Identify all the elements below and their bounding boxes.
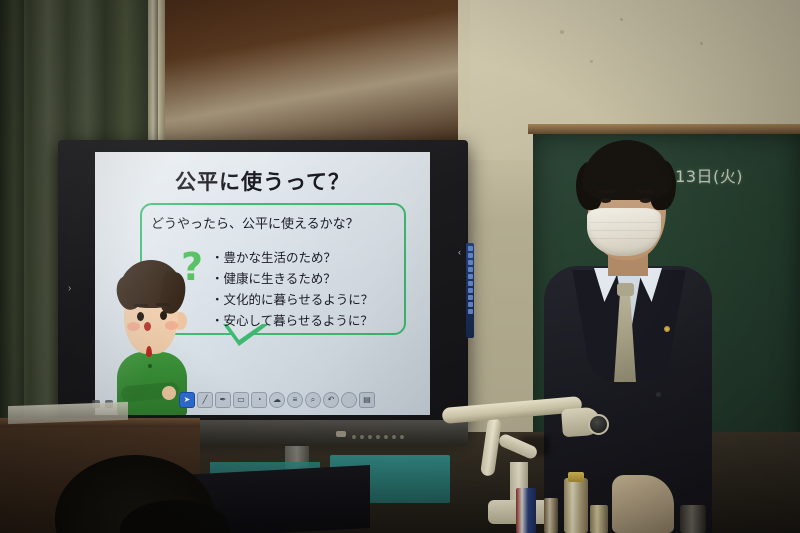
led-indicator — [392, 435, 396, 439]
boy-eye — [160, 311, 167, 320]
mask-fold — [590, 222, 658, 223]
led-indicator — [384, 435, 388, 439]
side-toolbar-button[interactable] — [468, 267, 473, 272]
boy-eye — [137, 312, 144, 321]
wall-speck — [560, 30, 564, 34]
select-cursor-tool-icon[interactable]: ➤ — [179, 392, 195, 408]
whiteboard-screen[interactable]: 公平に使うって？ どうやったら、公平に使えるかな？ ? ・豊かな生活のため？ ・… — [95, 152, 430, 415]
boy-cheek — [165, 321, 178, 330]
doccam-neck — [480, 417, 502, 476]
shape-tool-icon[interactable]: ◔ — [251, 392, 267, 408]
led-indicator — [376, 435, 380, 439]
bottle-cap — [568, 472, 584, 482]
boy-shirt-button — [148, 364, 152, 368]
slide-question-text: どうやったら、公平に使えるかな？ — [151, 213, 359, 232]
led-indicator — [352, 435, 356, 439]
teacher-eyebrow — [637, 190, 654, 193]
slide-bullet-item: ・文化的に暮らせるように？ — [211, 289, 373, 310]
undo-button-icon[interactable]: ↶ — [323, 392, 339, 408]
side-toolbar-button[interactable] — [468, 253, 473, 258]
chevron-right-icon[interactable]: › — [68, 284, 71, 294]
led-indicator — [360, 435, 364, 439]
delete-button-icon[interactable]: ▤ — [359, 392, 375, 408]
text-tool-icon[interactable]: ≡ — [287, 392, 303, 408]
teacher-hair — [582, 140, 672, 200]
chalk-rail — [528, 124, 800, 134]
boy-eyebrow — [134, 304, 148, 307]
lapel-pin-icon — [664, 326, 670, 332]
led-indicator — [400, 435, 404, 439]
slide-bullet-item: ・健康に生きるため？ — [211, 268, 373, 289]
side-toolbar-button[interactable] — [468, 288, 473, 293]
whiteboard-side-toolbar[interactable] — [466, 243, 474, 338]
dark-container — [680, 505, 706, 533]
wall-speck — [590, 60, 593, 63]
side-toolbar-button[interactable] — [468, 309, 473, 314]
slide-title: 公平に使うって？ — [95, 166, 430, 196]
led-indicator — [368, 435, 372, 439]
slide-bullet-item: ・安心して暮らせるように？ — [211, 310, 373, 331]
window-frame — [148, 0, 158, 150]
slide-annotation-toolbar[interactable]: ➤ ╱ ✒ ▭ ◔ ☁ ≡ ⌕ ↶ ▤ — [179, 392, 375, 408]
side-toolbar-button[interactable] — [468, 281, 473, 286]
side-toolbar-button[interactable] — [468, 246, 473, 251]
cloth-bag — [612, 475, 674, 533]
zoom-tool-icon[interactable]: ⌕ — [305, 392, 321, 408]
boy-eyebrow — [156, 303, 170, 306]
teacher-eye — [640, 198, 651, 203]
side-toolbar-button[interactable] — [468, 302, 473, 307]
boy-cheek — [127, 322, 140, 331]
brand-logo — [336, 431, 346, 437]
slide-bullet-list: ・豊かな生活のため？ ・健康に生きるため？ ・文化的に暮らせるように？ ・安心し… — [211, 247, 373, 331]
whiteboard-led-row — [352, 434, 424, 439]
camera-lens-icon — [588, 414, 609, 435]
highlighter-tool-icon[interactable]: ✒ — [215, 392, 231, 408]
mask-fold — [590, 238, 658, 239]
small-bottle — [544, 498, 558, 533]
teacher-necktie-knot — [617, 283, 634, 296]
redo-button-icon[interactable] — [341, 392, 357, 408]
beverage-can — [516, 488, 536, 533]
chevron-left-icon[interactable]: ‹ — [458, 248, 461, 257]
screenshot-root: 2月13日(火) 公平に使うって？ どうやったら、公平に使えるかな？ ? ・豊か… — [0, 0, 800, 533]
side-toolbar-button[interactable] — [468, 274, 473, 279]
wooden-cabinet — [158, 0, 458, 152]
slide-bullet-item: ・豊かな生活のため？ — [211, 247, 373, 268]
plastic-bottle — [564, 478, 588, 533]
side-toolbar-button[interactable] — [468, 260, 473, 265]
teacher-eyebrow — [598, 190, 615, 193]
boy-sweat-drop — [146, 346, 152, 357]
eraser-tool-icon[interactable]: ▭ — [233, 392, 249, 408]
teacher-eye — [600, 198, 611, 203]
stamp-tool-icon[interactable]: ☁ — [269, 392, 285, 408]
wall-speck — [700, 42, 703, 45]
beverage-can — [590, 505, 608, 533]
cabinet-edge — [158, 0, 165, 152]
boy-hand — [162, 386, 176, 400]
boy-mouth — [144, 322, 151, 331]
side-toolbar-button[interactable] — [468, 295, 473, 300]
pen-tool-icon[interactable]: ╱ — [197, 392, 213, 408]
wall-speck — [620, 18, 623, 21]
jacket-button — [656, 392, 661, 397]
mask-fold — [590, 230, 658, 231]
